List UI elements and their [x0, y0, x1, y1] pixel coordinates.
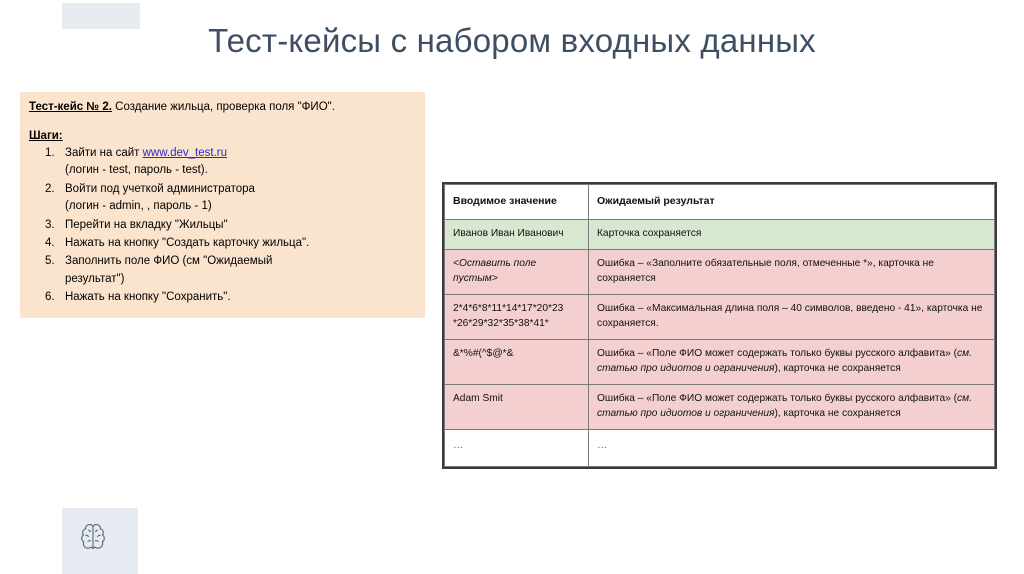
cell-expected-result: Ошибка – «Заполните обязательные поля, о… [589, 250, 995, 295]
step-subtext: (логин - test, пароль - test). [65, 162, 415, 179]
brain-icon [74, 518, 112, 556]
step-item: 5.Заполнить поле ФИО (см "Ожидаемыйрезул… [29, 253, 415, 288]
step-text: Нажать на кнопку "Сохранить". [65, 291, 231, 303]
step-number: 4. [29, 235, 65, 252]
expected-text-a: Ошибка – «Поле ФИО может содержать тольк… [597, 393, 957, 404]
steps-heading: Шаги: [29, 130, 415, 142]
column-header-expected: Ожидаемый результат [589, 185, 995, 220]
slide-root: Тест-кейсы с набором входных данных Тест… [0, 0, 1024, 574]
table-row: &*%#(^$@*&Ошибка – «Поле ФИО может содер… [445, 340, 995, 385]
test-case-number: Тест-кейс № 2. [29, 101, 112, 113]
step-item: 4.Нажать на кнопку "Создать карточку жил… [29, 235, 415, 252]
step-subtext: результат") [65, 271, 415, 288]
step-text: Заполнить поле ФИО (см "Ожидаемый [65, 255, 272, 267]
cell-expected-result: Ошибка – «Поле ФИО может содержать тольк… [589, 340, 995, 385]
cell-input-value: &*%#(^$@*& [445, 340, 589, 385]
table-row: 2*4*6*8*11*14*17*20*23 *26*29*32*35*38*4… [445, 295, 995, 340]
table-header-row: Вводимое значение Ожидаемый результат [445, 185, 995, 220]
step-number: 1. [29, 145, 65, 180]
cell-input-value: … [445, 430, 589, 466]
table-row: <Оставить поле пустым>Ошибка – «Заполнит… [445, 250, 995, 295]
cell-input-value: Иванов Иван Иванович [445, 219, 589, 249]
step-body: Перейти на вкладку "Жильцы" [65, 217, 415, 234]
step-text: Войти под учеткой администратора [65, 183, 255, 195]
expected-text-a: Ошибка – «Поле ФИО может содержать тольк… [597, 348, 957, 359]
table-row: …… [445, 430, 995, 466]
cell-expected-result: Ошибка – «Максимальная длина поля – 40 с… [589, 295, 995, 340]
step-body: Нажать на кнопку "Сохранить". [65, 289, 415, 306]
step-body: Нажать на кнопку "Создать карточку жильц… [65, 235, 415, 252]
step-number: 6. [29, 289, 65, 306]
table-row: Иванов Иван ИвановичКарточка сохраняется [445, 219, 995, 249]
step-item: 1.Зайти на сайт www.dev_test.ru(логин - … [29, 145, 415, 180]
step-number: 3. [29, 217, 65, 234]
test-data-table-wrapper: Вводимое значение Ожидаемый результат Ив… [442, 182, 997, 469]
cell-input-value: 2*4*6*8*11*14*17*20*23 *26*29*32*35*38*4… [445, 295, 589, 340]
step-body: Заполнить поле ФИО (см "Ожидаемыйрезульт… [65, 253, 415, 288]
expected-text-b: ), карточка не сохраняется [775, 408, 901, 419]
step-text: Перейти на вкладку "Жильцы" [65, 219, 228, 231]
step-item: 3.Перейти на вкладку "Жильцы" [29, 217, 415, 234]
cell-input-value: Adam Smit [445, 385, 589, 430]
table-row: Adam SmitОшибка – «Поле ФИО может содерж… [445, 385, 995, 430]
steps-list: 1.Зайти на сайт www.dev_test.ru(логин - … [29, 145, 415, 307]
step-body: Войти под учеткой администратора(логин -… [65, 181, 415, 216]
column-header-input: Вводимое значение [445, 185, 589, 220]
step-number: 2. [29, 181, 65, 216]
step-number: 5. [29, 253, 65, 288]
cell-expected-result: Ошибка – «Поле ФИО может содержать тольк… [589, 385, 995, 430]
test-case-heading: Тест-кейс № 2. Создание жильца, проверка… [29, 99, 415, 116]
test-case-steps-panel: Тест-кейс № 2. Создание жильца, проверка… [20, 92, 425, 318]
test-case-description: Создание жильца, проверка поля "ФИО". [112, 101, 335, 113]
test-data-table: Вводимое значение Ожидаемый результат Ив… [444, 184, 995, 467]
step-text: Зайти на сайт [65, 147, 143, 159]
expected-text-b: ), карточка не сохраняется [775, 363, 901, 374]
step-body: Зайти на сайт www.dev_test.ru(логин - te… [65, 145, 415, 180]
page-title: Тест-кейсы с набором входных данных [0, 22, 1024, 60]
step-link[interactable]: www.dev_test.ru [143, 147, 227, 159]
cell-expected-result: … [589, 430, 995, 466]
cell-input-italic: <Оставить поле пустым> [453, 258, 536, 283]
step-item: 2.Войти под учеткой администратора(логин… [29, 181, 415, 216]
step-subtext: (логин - admin, , пароль - 1) [65, 198, 415, 215]
step-text: Нажать на кнопку "Создать карточку жильц… [65, 237, 309, 249]
step-item: 6.Нажать на кнопку "Сохранить". [29, 289, 415, 306]
cell-expected-result: Карточка сохраняется [589, 219, 995, 249]
cell-input-value: <Оставить поле пустым> [445, 250, 589, 295]
